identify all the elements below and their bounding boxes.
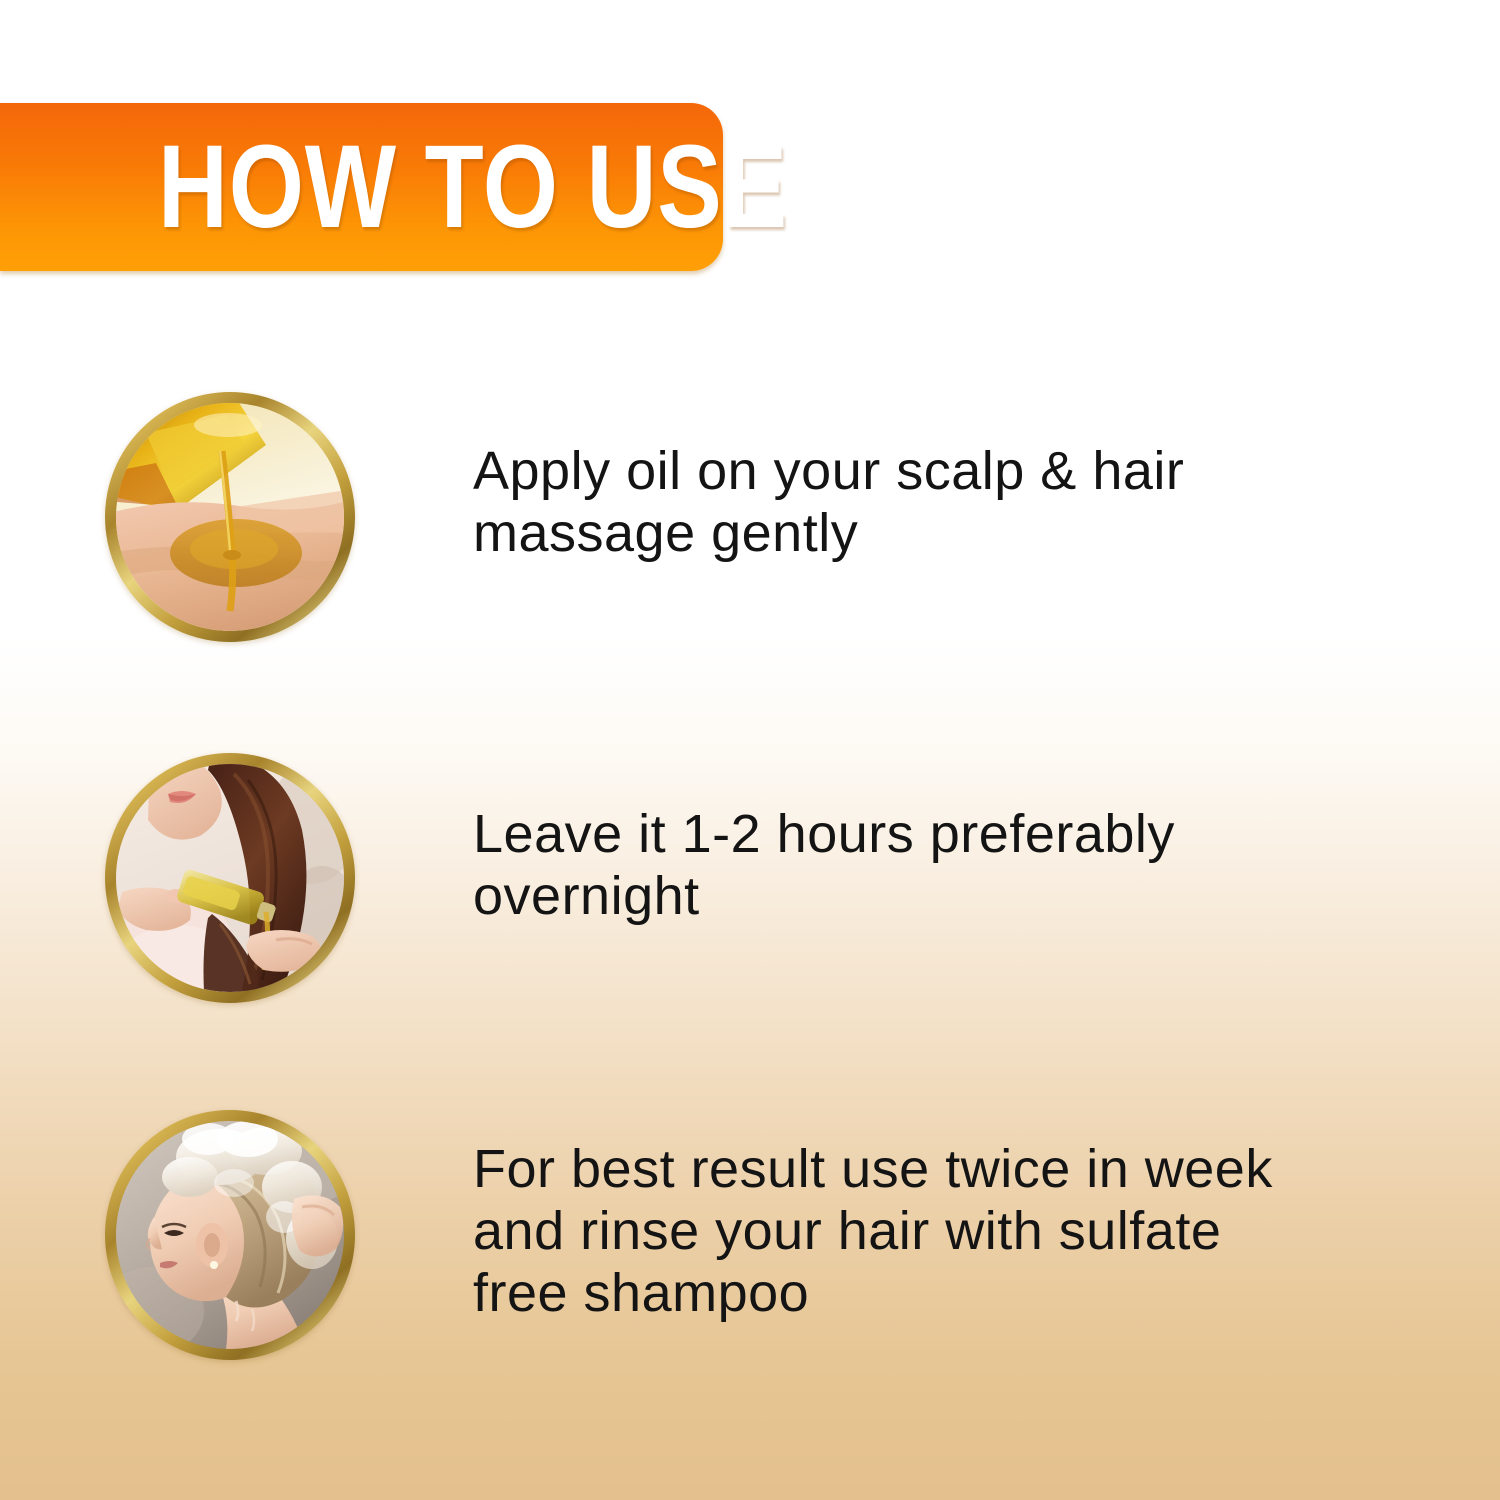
step-2-description: Leave it 1-2 hours preferably overnight	[473, 803, 1175, 927]
step-3-description: For best result use twice in week and ri…	[473, 1138, 1273, 1324]
step-2-image-ring	[105, 753, 355, 1003]
step-1-description: Apply oil on your scalp & hair massage g…	[473, 440, 1184, 564]
woman-shampooing-hair-photo	[116, 1121, 344, 1349]
step-3-image-ring	[105, 1110, 355, 1360]
step-row-3: For best result use twice in week and ri…	[0, 1110, 1500, 1360]
step-row-2: Leave it 1-2 hours preferably overnight	[0, 753, 1500, 1003]
woman-applying-oil-to-hair-photo	[116, 764, 344, 992]
page-title: HOW TO USE	[158, 128, 788, 246]
oil-poured-into-palm-photo	[116, 403, 344, 631]
how-to-use-infographic: HOW TO USE	[0, 0, 1500, 1500]
how-to-use-banner: HOW TO USE	[0, 103, 723, 271]
step-row-1: Apply oil on your scalp & hair massage g…	[0, 392, 1500, 642]
step-1-image-ring	[105, 392, 355, 642]
